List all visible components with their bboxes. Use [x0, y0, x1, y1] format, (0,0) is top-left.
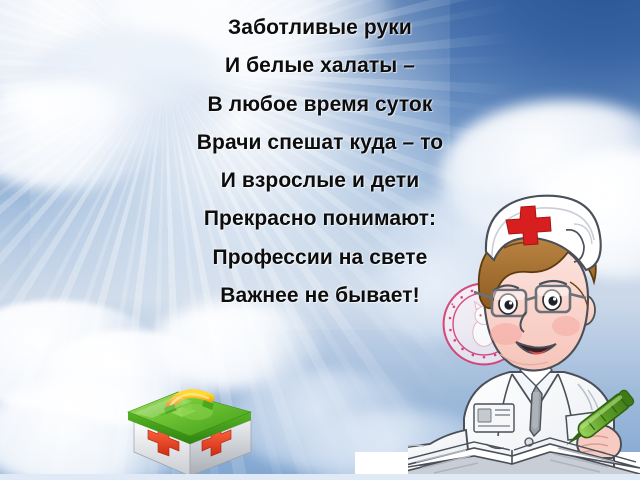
cartoon-doctor-illustration — [408, 186, 640, 480]
slide-canvas: • Заботливые руки И белые халаты – В — [0, 0, 640, 480]
bottom-accent-strip — [0, 474, 640, 480]
first-aid-kit — [118, 368, 263, 480]
